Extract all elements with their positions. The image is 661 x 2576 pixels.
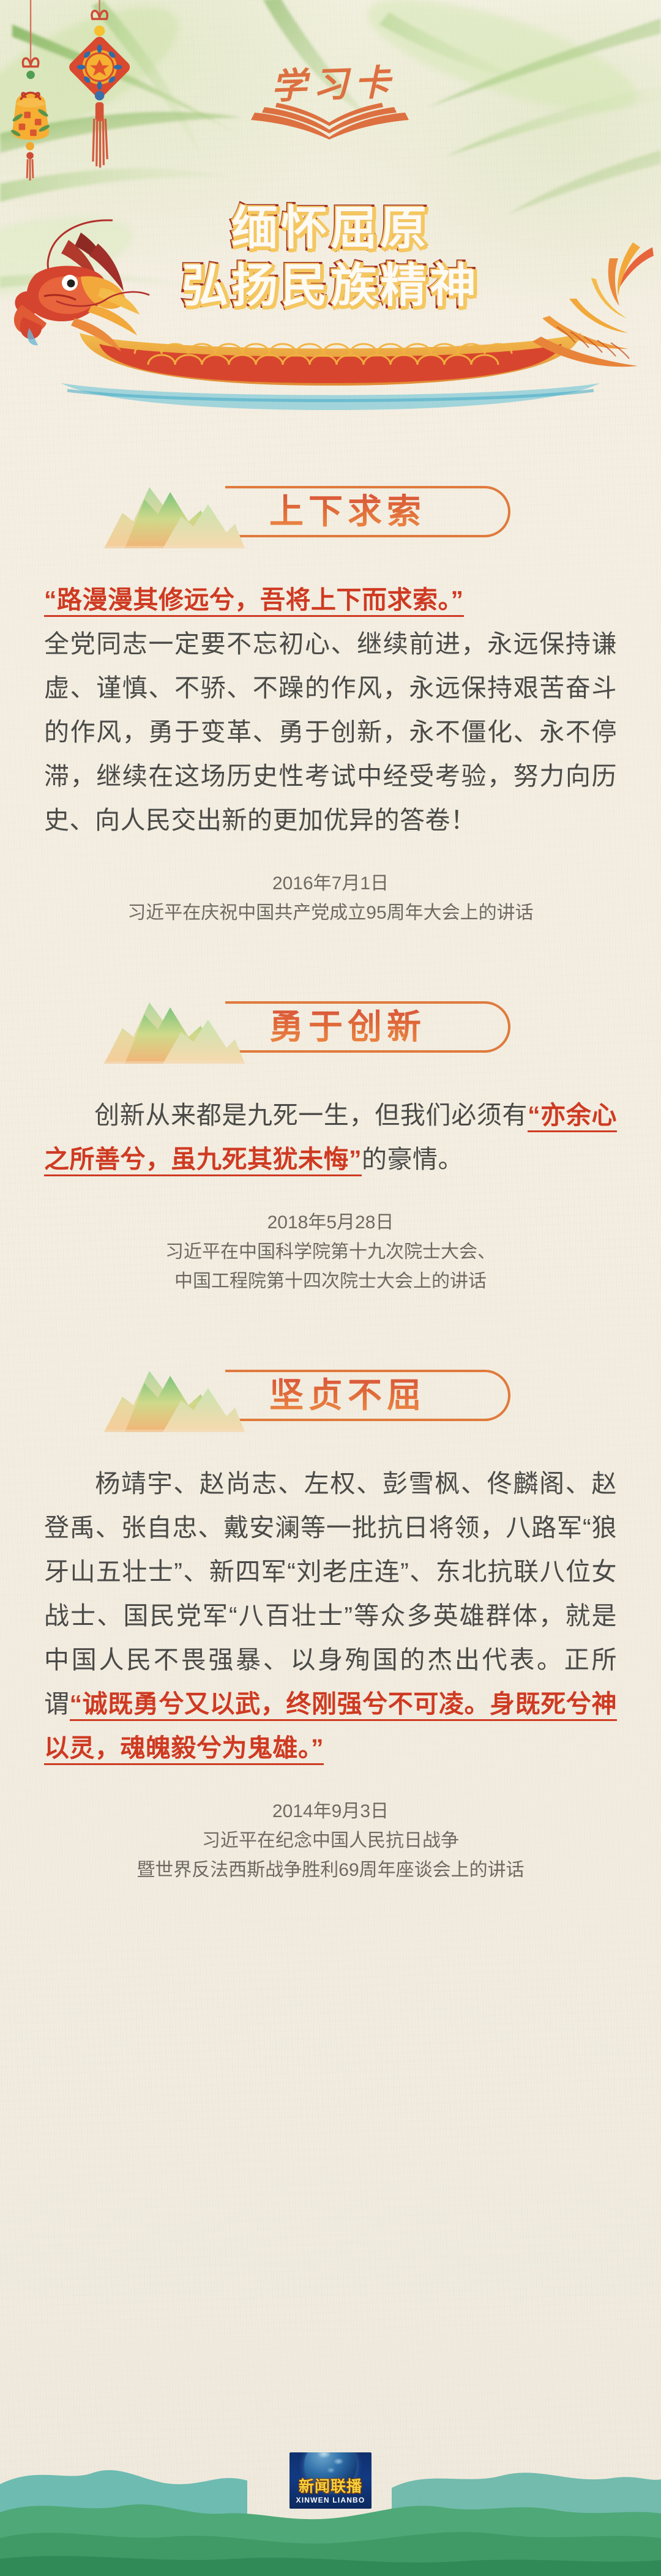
title-line-1: 缅怀屈原 [231,202,430,256]
section-jianzhen-buqu: 坚贞不屈 杨靖宇、赵尚志、左权、彭雪枫、佟麟阁、赵登禹、张自忠、戴安澜等一批抗日… [0,1349,661,1885]
section-header: 上下求索 [0,465,661,557]
section-attribution: 2016年7月1日 习近平在庆祝中国共产党成立95周年大会上的讲话 [0,869,661,928]
footer: 新闻联播 XINWEN LIANBO [0,2392,661,2576]
section-shangxia-qiusuo: 上下求索 “路漫漫其修远兮，吾将上下而求索。” 全党同志一定要不忘初心、继续前进… [0,465,661,928]
section-title: 上下求索 [269,488,426,535]
attribution-date: 2014年9月3日 [0,1797,661,1826]
brand-label: 学习卡 [264,65,397,105]
attribution-source-2: 中国工程院第十四次院士大会上的讲话 [0,1267,661,1296]
poster-title: 缅怀屈原 弘扬民族精神 [0,202,661,313]
section-body-post: 的豪情。 [362,1145,463,1173]
attribution-source-2: 暨世界反法西斯战争胜利69周年座谈会上的讲话 [0,1856,661,1885]
section-quote: “路漫漫其修远兮，吾将上下而求索。” [44,586,464,617]
attribution-source-1: 习近平在中国科学院第十九次院士大会、 [0,1238,661,1267]
section-yongyu-chuangxin: 勇于创新 创新从来都是九死一生，但我们必须有“亦余心之所善兮，虽九死其犹未悔”的… [0,980,661,1296]
section-attribution: 2014年9月3日 习近平在纪念中国人民抗日战争 暨世界反法西斯战争胜利69周年… [0,1797,661,1885]
attribution-date: 2016年7月1日 [0,869,661,898]
brand-lockup: 学习卡 [0,67,661,140]
section-body-pre: 杨靖宇、赵尚志、左权、彭雪枫、佟麟阁、赵登禹、张自忠、戴安澜等一批抗日将领，八路… [44,1469,617,1718]
section-quote: “诚既勇兮又以武，终刚强兮不可凌。身既死兮神以灵，魂魄毅兮为鬼雄。” [44,1690,617,1765]
section-body-pre: 创新从来都是九死一生，但我们必须有 [94,1101,528,1129]
poster-page: 学习卡 [0,0,661,2576]
mountain-icon [104,991,245,1064]
title-line-2: 弘扬民族精神 [182,259,479,313]
section-title: 勇于创新 [269,1004,426,1050]
attribution-source-1: 习近平在纪念中国人民抗日战争 [0,1826,661,1856]
section-header: 勇于创新 [0,980,661,1072]
section-body: 杨靖宇、赵尚志、左权、彭雪枫、佟麟阁、赵登禹、张自忠、戴安澜等一批抗日将领，八路… [44,1462,617,1770]
logo-chinese-text: 新闻联播 [299,2478,362,2495]
hero-header: 学习卡 [0,0,661,465]
section-title: 坚贞不屈 [269,1372,426,1419]
section-body: “路漫漫其修远兮，吾将上下而求索。” 全党同志一定要不忘初心、继续前进，永远保持… [44,578,617,842]
section-attribution: 2018年5月28日 习近平在中国科学院第十九次院士大会、 中国工程院第十四次院… [0,1208,661,1296]
section-body: 创新从来都是九死一生，但我们必须有“亦余心之所善兮，虽九死其犹未悔”的豪情。 [44,1093,617,1181]
xinwen-lianbo-logo: 新闻联播 XINWEN LIANBO [289,2452,372,2509]
attribution-source-1: 习近平在庆祝中国共产党成立95周年大会上的讲话 [0,898,661,928]
attribution-date: 2018年5月28日 [0,1208,661,1238]
mountain-icon [104,1360,245,1432]
section-header: 坚贞不屈 [0,1349,661,1441]
logo-english-text: XINWEN LIANBO [296,2495,365,2505]
section-body-text: 全党同志一定要不忘初心、继续前进，永远保持谦虚、谨慎、不骄、不躁的作风，永远保持… [44,630,617,834]
mountain-icon [104,476,245,548]
